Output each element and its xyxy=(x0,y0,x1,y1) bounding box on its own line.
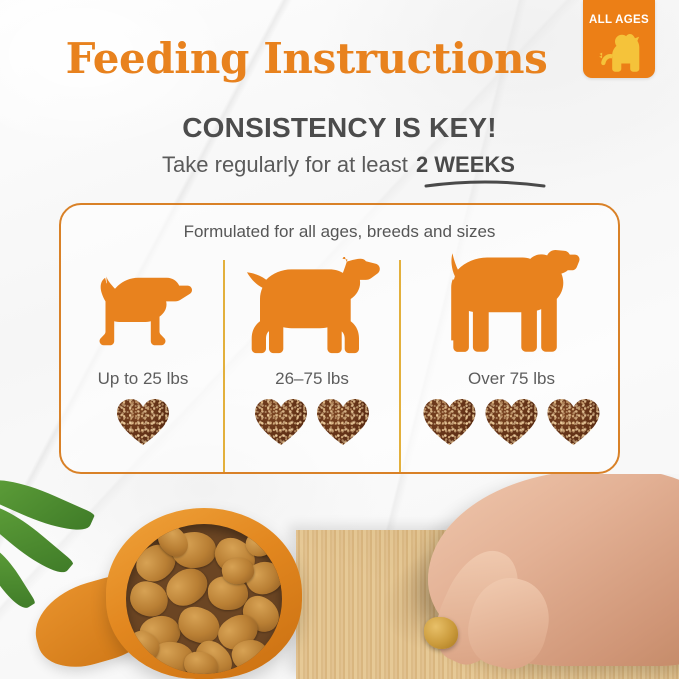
subline-emphasis: 2 WEEKS xyxy=(414,152,517,177)
emphasis-underline-arc xyxy=(424,178,546,188)
all-ages-badge-label: ALL AGES xyxy=(583,14,655,26)
subline-prefix: Take regularly for at least xyxy=(162,152,414,177)
orange-scoop-bowl xyxy=(106,508,302,679)
size-label-medium: 26–75 lbs xyxy=(275,369,349,389)
kibble-piece xyxy=(174,602,224,647)
sitting-dog-icon xyxy=(590,28,648,76)
card-caption: Formulated for all ages, breeds and size… xyxy=(61,222,618,242)
large-dog-icon xyxy=(441,253,583,361)
bowl-interior xyxy=(126,524,282,674)
size-label-large: Over 75 lbs xyxy=(468,369,555,389)
product-photo xyxy=(0,474,679,679)
held-treat-icon xyxy=(424,617,458,649)
headline: CONSISTENCY IS KEY! xyxy=(0,112,679,144)
small-dog-icon xyxy=(90,253,196,361)
all-ages-badge: ALL AGES xyxy=(583,0,655,78)
feeding-chart-card: Formulated for all ages, breeds and size… xyxy=(59,203,620,474)
size-column-small: Up to 25 lbs xyxy=(63,253,223,473)
subline: Take regularly for at least 2 WEEKS xyxy=(0,152,679,178)
treat-count-medium xyxy=(254,398,370,446)
size-column-large: Over 75 lbs xyxy=(401,253,622,473)
feeding-instructions-page: Feeding Instructions ALL AGES CONSISTENC… xyxy=(0,0,679,679)
heart-treat-icon xyxy=(547,398,601,446)
size-label-small: Up to 25 lbs xyxy=(98,369,189,389)
treat-count-large xyxy=(423,398,601,446)
heart-treat-icon xyxy=(423,398,477,446)
page-title: Feeding Instructions xyxy=(0,34,679,83)
heart-treat-icon xyxy=(116,398,170,446)
size-column-medium: 26–75 lbs xyxy=(225,253,399,473)
heart-treat-icon xyxy=(254,398,308,446)
heart-treat-icon xyxy=(316,398,370,446)
kibble-piece xyxy=(127,578,172,620)
medium-dog-icon xyxy=(243,253,381,361)
treat-count-small xyxy=(116,398,170,446)
heart-treat-icon xyxy=(485,398,539,446)
